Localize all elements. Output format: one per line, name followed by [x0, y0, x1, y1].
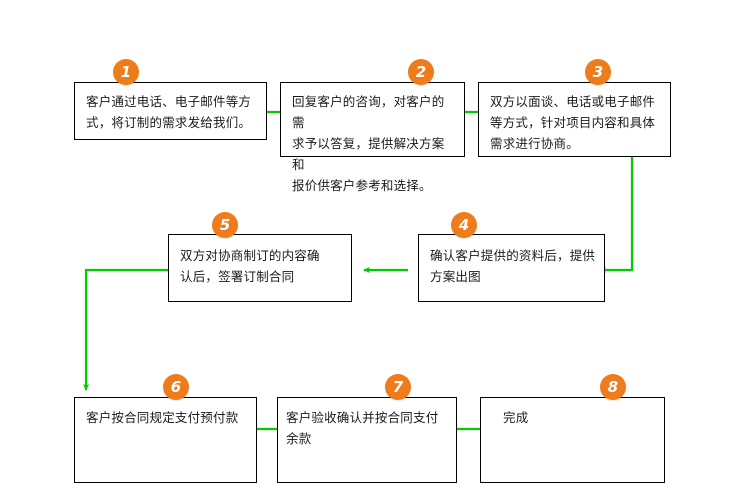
flow-node-3[interactable]: 双方以面谈、电话或电子邮件 等方式，针对项目内容和具体 需求进行协商。 [478, 82, 671, 157]
flow-node-4-number: 4 [451, 212, 477, 238]
flow-node-3-number: 3 [585, 59, 611, 85]
flow-node-7[interactable]: 客户验收确认并按合同支付余款 [277, 397, 457, 483]
flow-node-5-number: 5 [212, 212, 238, 238]
flow-node-6-number: 6 [163, 374, 189, 400]
flow-node-5[interactable]: 双方对协商制订的内容确 认后，签署订制合同 [168, 234, 352, 302]
flow-node-2-number: 2 [408, 59, 434, 85]
flow-node-8-number: 8 [600, 374, 626, 400]
flow-node-4-badge: 4 [451, 212, 477, 238]
flow-node-1[interactable]: 客户通过电话、电子邮件等方 式，将订制的需求发给我们。 [74, 82, 267, 140]
flow-node-1-text: 客户通过电话、电子邮件等方 式，将订制的需求发给我们。 [86, 91, 258, 133]
flow-node-1-badge: 1 [113, 59, 139, 85]
flow-node-3-badge: 3 [585, 59, 611, 85]
flow-node-5-text: 双方对协商制订的内容确 认后，签署订制合同 [180, 245, 343, 287]
flow-node-8-text: 完成 [503, 407, 656, 428]
flow-node-8-badge: 8 [600, 374, 626, 400]
flow-node-5-badge: 5 [212, 212, 238, 238]
connector-5-to-6 [86, 270, 176, 390]
flow-node-6[interactable]: 客户按合同规定支付预付款 [74, 397, 257, 483]
flow-node-6-badge: 6 [163, 374, 189, 400]
flow-node-3-text: 双方以面谈、电话或电子邮件 等方式，针对项目内容和具体 需求进行协商。 [490, 91, 662, 154]
flow-node-7-badge: 7 [385, 374, 411, 400]
flow-node-6-text: 客户按合同规定支付预付款 [86, 407, 248, 428]
flow-node-2-badge: 2 [408, 59, 434, 85]
flow-node-8[interactable]: 完成 [480, 397, 665, 483]
flow-node-7-number: 7 [385, 374, 411, 400]
flowchart-canvas: 客户通过电话、电子邮件等方 式，将订制的需求发给我们。 1 回复客户的咨询，对客… [0, 0, 750, 500]
flow-node-2-text: 回复客户的咨询，对客户的需 求予以答复，提供解决方案和 报价供客户参考和选择。 [292, 91, 456, 196]
flow-node-2[interactable]: 回复客户的咨询，对客户的需 求予以答复，提供解决方案和 报价供客户参考和选择。 [280, 82, 465, 157]
flow-node-4[interactable]: 确认客户提供的资料后，提供 方案出图 [418, 234, 605, 302]
flow-node-1-number: 1 [113, 59, 139, 85]
flow-node-4-text: 确认客户提供的资料后，提供 方案出图 [430, 245, 596, 287]
flow-node-7-text: 客户验收确认并按合同支付余款 [286, 407, 448, 449]
